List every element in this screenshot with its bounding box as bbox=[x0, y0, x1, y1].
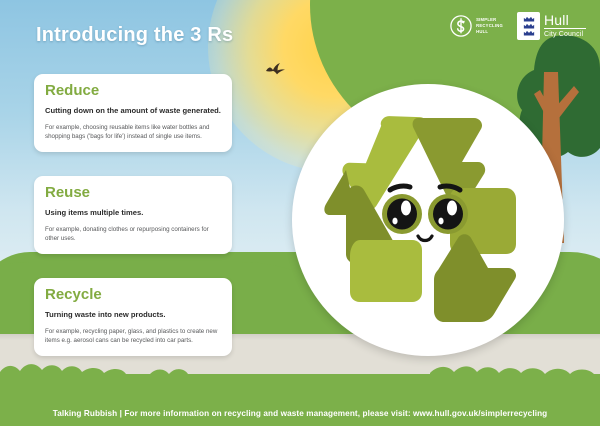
footer-bar: Talking Rubbish | For more information o… bbox=[0, 400, 600, 426]
crown-icon bbox=[523, 30, 535, 36]
card-body: For example, recycling paper, glass, and… bbox=[45, 327, 221, 346]
card-title: Reuse bbox=[45, 185, 221, 202]
footer-text[interactable]: Talking Rubbish | For more information o… bbox=[53, 409, 548, 418]
left-eye-highlight-small bbox=[392, 218, 397, 225]
simpler-recycling-wordmark: Simpler Recycling Hull bbox=[476, 17, 503, 34]
card-recycle: Recycle Turning waste into new products.… bbox=[34, 278, 232, 356]
arrow-bottom-left bbox=[350, 240, 422, 302]
card-reuse: Reuse Using items multiple times. For ex… bbox=[34, 176, 232, 254]
crown-icon bbox=[523, 16, 535, 22]
simpler-line-2: Recycling bbox=[476, 23, 503, 29]
card-body: For example, choosing reusable items lik… bbox=[45, 123, 221, 142]
bird-icon bbox=[265, 62, 287, 76]
left-eye-highlight bbox=[401, 201, 411, 216]
simpler-line-3: Hull bbox=[476, 29, 503, 35]
right-eye-pupil bbox=[433, 199, 463, 230]
card-lead: Turning waste into new products. bbox=[45, 309, 221, 320]
three-crowns-crest-icon bbox=[517, 12, 540, 40]
right-eye-highlight bbox=[447, 201, 457, 216]
crown-icon bbox=[523, 23, 535, 29]
card-body: For example, donating clothes or repurpo… bbox=[45, 225, 221, 244]
simpler-recycling-logo: Simpler Recycling Hull bbox=[450, 15, 503, 37]
card-title: Reduce bbox=[45, 83, 221, 100]
left-eye-pupil bbox=[387, 199, 417, 230]
recycling-symbol bbox=[292, 84, 564, 356]
swirl-recycling-icon bbox=[450, 15, 472, 37]
hull-name: Hull bbox=[544, 13, 586, 27]
card-reduce: Reduce Cutting down on the amount of was… bbox=[34, 74, 232, 152]
left-eyebrow bbox=[390, 186, 410, 190]
hull-rule bbox=[544, 28, 586, 29]
right-eye-highlight-small bbox=[438, 218, 443, 225]
hull-city-council-logo: Hull City Council bbox=[517, 12, 586, 40]
poster-root: Introducing the 3 Rs Simpler Recycling H… bbox=[0, 0, 600, 426]
hull-wordmark: Hull City Council bbox=[544, 12, 586, 38]
mouth bbox=[418, 236, 432, 241]
page-title: Introducing the 3 Rs bbox=[36, 24, 233, 47]
card-title: Recycle bbox=[45, 287, 221, 304]
hull-subtitle: City Council bbox=[544, 31, 586, 38]
logo-group: Simpler Recycling Hull Hull City bbox=[450, 12, 586, 40]
card-lead: Using items multiple times. bbox=[45, 207, 221, 218]
bushes-icon bbox=[0, 352, 600, 382]
card-lead: Cutting down on the amount of waste gene… bbox=[45, 105, 221, 116]
